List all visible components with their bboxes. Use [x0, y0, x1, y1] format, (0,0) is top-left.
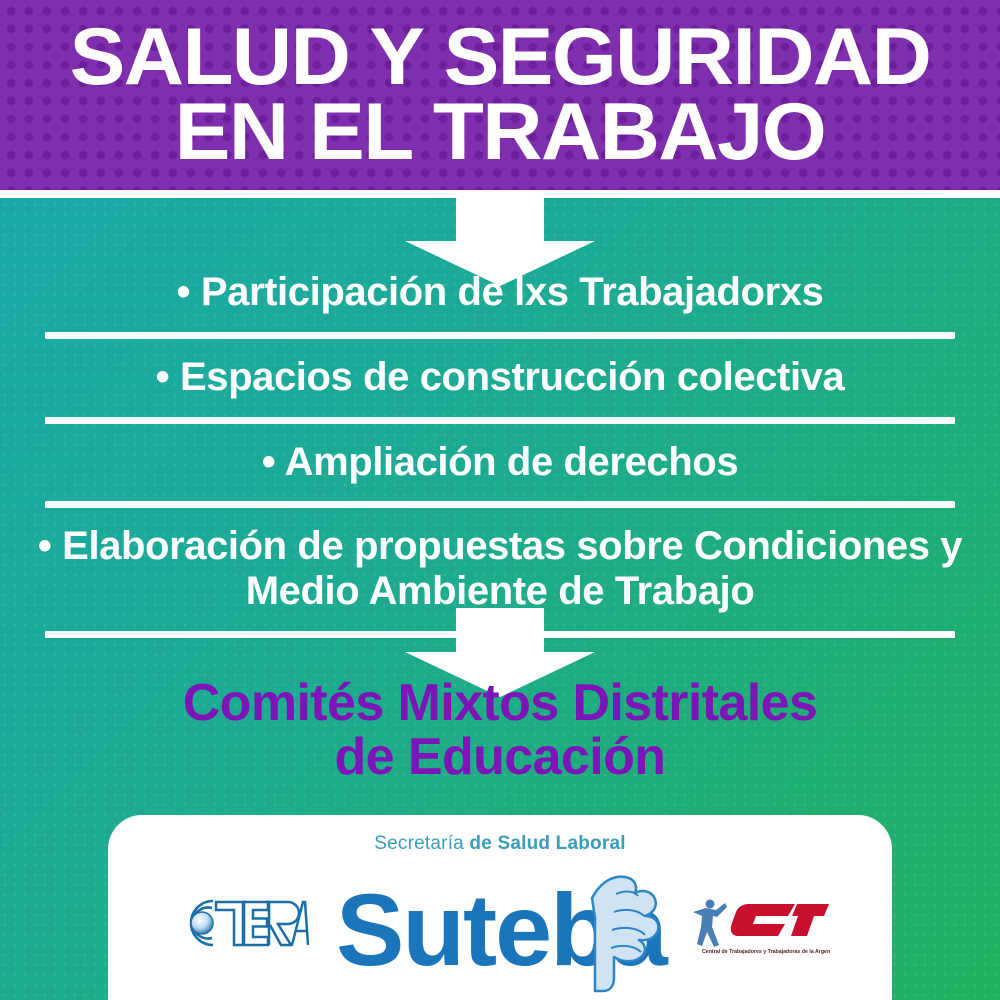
subtitle-line2: de Educación: [0, 730, 1000, 784]
spacer: [0, 315, 1000, 332]
spacer: [0, 484, 1000, 501]
page-title: SALUD Y SEGURIDAD EN EL TRABAJO: [0, 0, 1000, 190]
subtitle: Comités Mixtos Distritales de Educación: [0, 676, 1000, 784]
page-title-line2: EN EL TRABAJO: [175, 95, 826, 170]
cta-figure-icon: [693, 900, 727, 948]
logo-row: Suteba: [108, 865, 892, 995]
list-divider: [45, 417, 955, 424]
list-item: • Participación de lxs Trabajadorxs: [0, 270, 1000, 315]
cta-logo: Central de Trabajadores y Trabajadoras d…: [690, 890, 830, 960]
spacer: [0, 508, 1000, 524]
subtitle-line1: Comités Mixtos Distritales: [183, 674, 818, 732]
header-banner: SALUD Y SEGURIDAD EN EL TRABAJO: [0, 0, 1000, 190]
cta-wordmark: [731, 904, 829, 936]
poster-canvas: SALUD Y SEGURIDAD EN EL TRABAJO • Partic…: [0, 0, 1000, 1000]
bullet-list: • Participación de lxs Trabajadorxs • Es…: [0, 270, 1000, 638]
spacer: [0, 339, 1000, 355]
footer-caption-bold: de Salud Laboral: [469, 833, 625, 854]
list-item: • Elaboración de propuestas sobre Condic…: [0, 524, 1000, 614]
list-divider: [45, 332, 955, 339]
list-item: • Ampliación de derechos: [0, 440, 1000, 485]
header-divider: [0, 190, 1000, 198]
list-item: • Espacios de construcción colectiva: [0, 355, 1000, 400]
arrow-stem: [456, 608, 544, 652]
footer-card: Secretaría de Salud Laboral: [108, 815, 892, 1000]
page-title-line1: SALUD Y SEGURIDAD: [70, 20, 931, 95]
ctera-logo: [180, 895, 310, 951]
cta-tagline: Central de Trabajadores y Trabajadoras d…: [702, 949, 830, 955]
list-divider: [45, 501, 955, 508]
spacer: [0, 400, 1000, 417]
footer-caption: Secretaría de Salud Laboral: [108, 833, 892, 855]
arrow-stem: [456, 197, 544, 241]
footer-caption-regular: Secretaría: [374, 833, 464, 854]
spacer: [0, 424, 1000, 440]
suteba-logo: Suteba: [336, 870, 676, 995]
